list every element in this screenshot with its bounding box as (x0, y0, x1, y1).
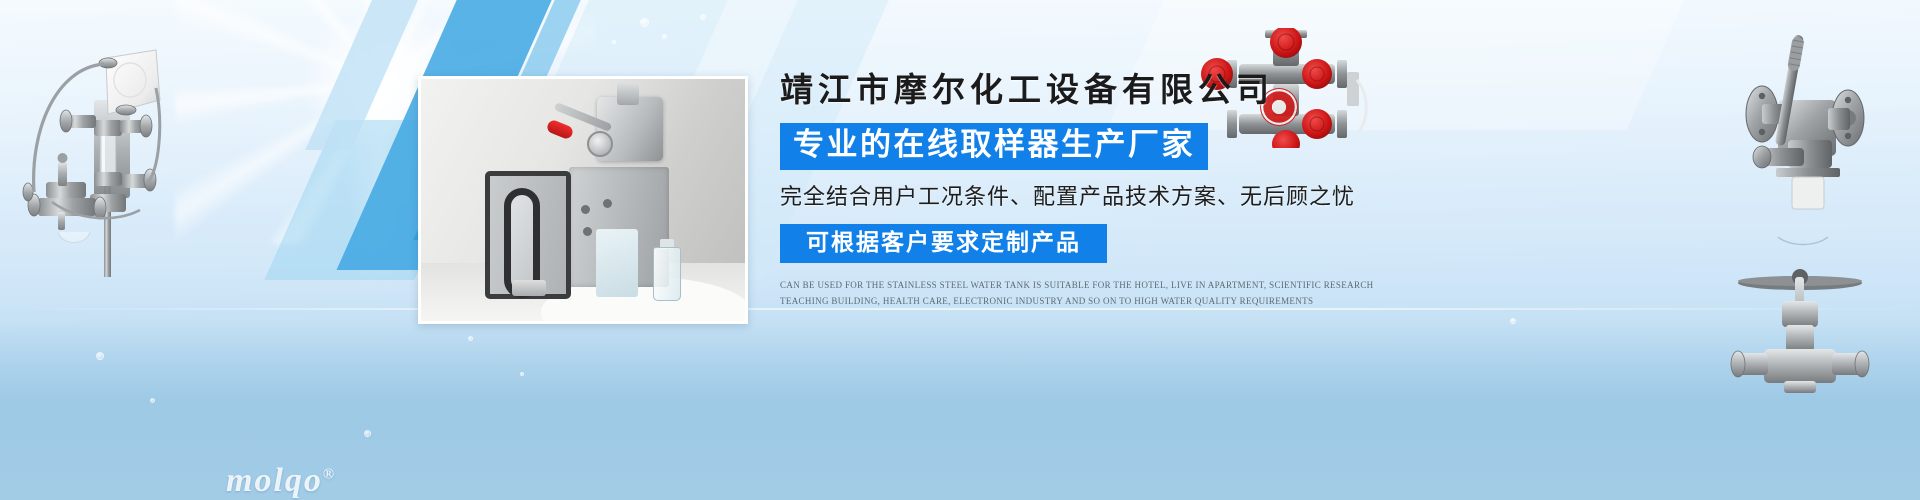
door-latch (512, 280, 546, 296)
center-product-photo (418, 76, 748, 324)
right-gate-valve-illustration (1690, 225, 1910, 395)
cabinet-hole (603, 199, 612, 208)
right-lever-valve-illustration (1700, 22, 1915, 217)
sampler-flange (587, 131, 613, 157)
cabinet-door (485, 171, 571, 299)
cta-text: 可根据客户要求定制产品 (806, 229, 1081, 255)
registered-mark-icon: ® (323, 467, 336, 483)
banner-text-column: 靖江市摩尔化工设备有限公司 专业的在线取样器生产厂家 完全结合用户工况条件、配置… (780, 72, 1400, 310)
cabinet-hole (583, 227, 592, 236)
brand-watermark: molqo® (226, 462, 336, 500)
sun-ray-decoration (355, 60, 395, 290)
sub-headline-text: 完全结合用户工况条件、配置产品技术方案、无后顾之忧 (780, 183, 1400, 212)
company-name: 靖江市摩尔化工设备有限公司 (780, 72, 1400, 111)
cabinet-hole (581, 205, 590, 214)
left-equipment-illustration (8, 22, 168, 277)
cta-highlight-box[interactable]: 可根据客户要求定制产品 (780, 224, 1107, 262)
promo-banner: 靖江市摩尔化工设备有限公司 专业的在线取样器生产厂家 完全结合用户工况条件、配置… (0, 0, 1920, 500)
watermark-text: molqo (226, 462, 323, 499)
sampler-top-fitting (617, 83, 639, 105)
headline-highlight-box: 专业的在线取样器生产厂家 (780, 123, 1208, 170)
english-description: CAN BE USED FOR THE STAINLESS STEEL WATE… (780, 277, 1380, 310)
headline-text: 专业的在线取样器生产厂家 (793, 128, 1195, 163)
sample-bottle (653, 247, 681, 301)
cabinet-window (596, 229, 638, 297)
